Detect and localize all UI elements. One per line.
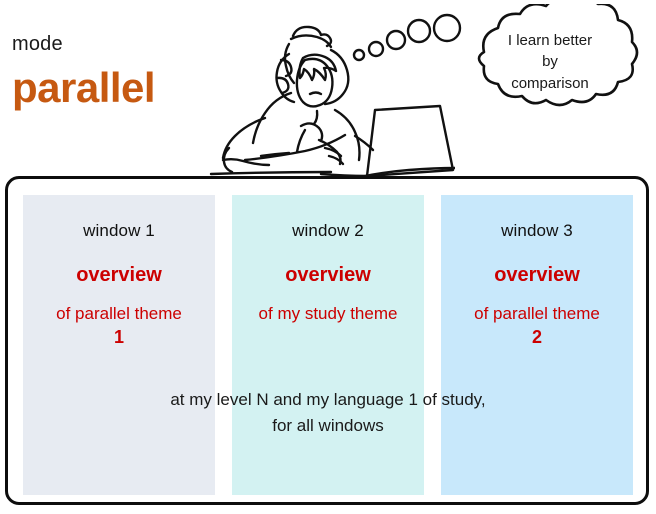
window-title: window 3 xyxy=(441,221,633,241)
window-theme-number: 2 xyxy=(441,325,633,350)
window-panel-3[interactable]: window 3 overview of parallel theme 2 xyxy=(441,195,633,495)
thought-bubble-line-1: I learn better xyxy=(455,30,645,51)
thought-bubble-line-2: by xyxy=(455,51,645,72)
mode-label: mode xyxy=(12,34,63,54)
thought-bubble-text: I learn better by comparison xyxy=(455,30,645,94)
window-description: of my study theme xyxy=(232,303,424,325)
window-overview-label: overview xyxy=(232,263,424,287)
window-overview-label: overview xyxy=(441,263,633,287)
window-description: of parallel theme xyxy=(441,303,633,325)
window-theme-number: 1 xyxy=(23,325,215,350)
windows-container: window 1 overview of parallel theme 1 wi… xyxy=(5,176,649,505)
windows-row: window 1 overview of parallel theme 1 wi… xyxy=(23,195,633,495)
thought-bubble-line-3: comparison xyxy=(455,73,645,94)
window-description: of parallel theme xyxy=(23,303,215,325)
header: mode parallel xyxy=(0,0,656,176)
window-overview-label: overview xyxy=(23,263,215,287)
window-panel-1[interactable]: window 1 overview of parallel theme 1 xyxy=(23,195,215,495)
window-title: window 2 xyxy=(232,221,424,241)
mode-value: parallel xyxy=(12,66,155,110)
window-title: window 1 xyxy=(23,221,215,241)
window-panel-2[interactable]: window 2 overview of my study theme xyxy=(232,195,424,495)
